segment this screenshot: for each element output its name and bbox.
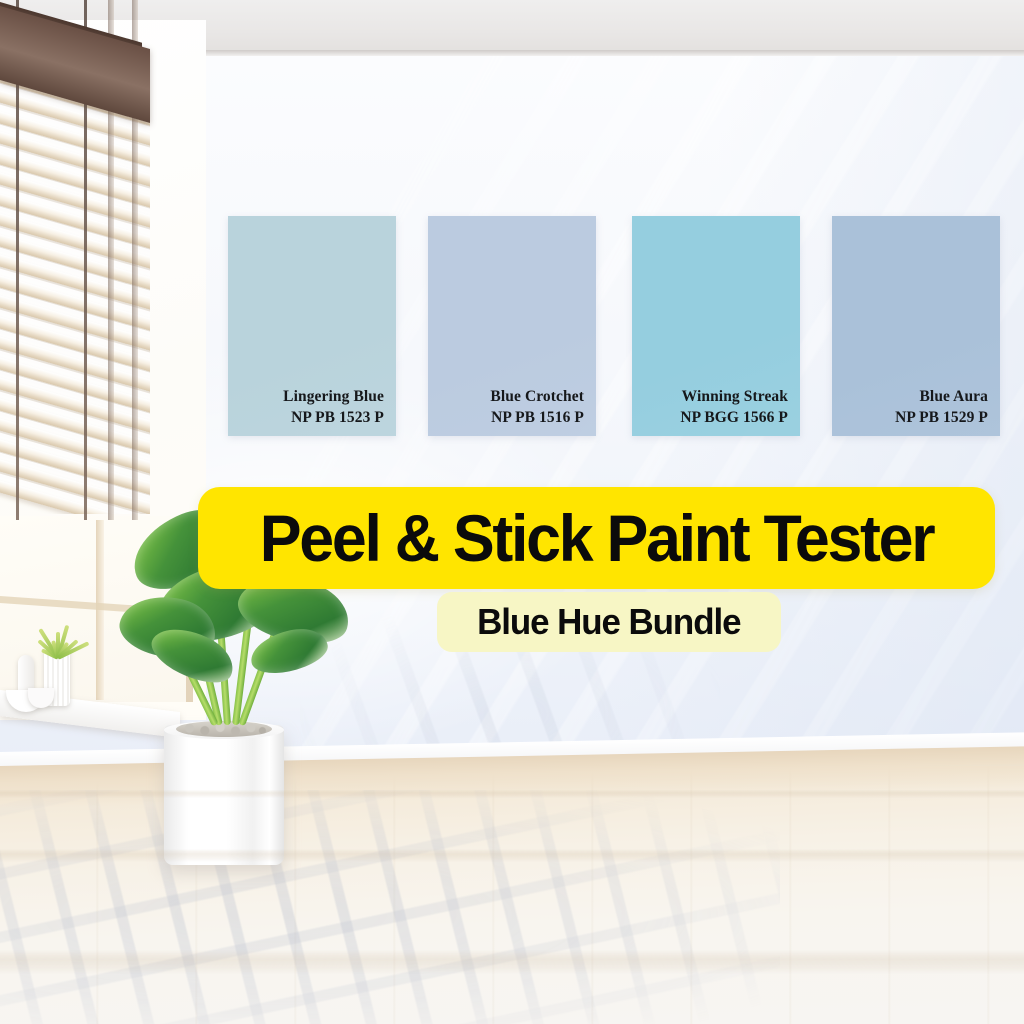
subtitle-pill: Blue Hue Bundle xyxy=(437,592,781,652)
subtitle-text: Blue Hue Bundle xyxy=(477,604,740,640)
paint-swatch-winning-streak[interactable]: Winning Streak NP BGG 1566 P xyxy=(632,216,800,436)
swatch-name: Lingering Blue xyxy=(283,386,384,407)
floor-blind-shadow xyxy=(0,790,780,1024)
succulent-plant xyxy=(36,618,80,658)
white-planter xyxy=(164,725,284,865)
swatch-code: NP BGG 1566 P xyxy=(680,407,788,428)
headline-banner: Peel & Stick Paint Tester xyxy=(198,487,995,589)
swatch-name: Blue Crotchet xyxy=(490,386,584,407)
swatch-code: NP PB 1529 P xyxy=(895,407,988,428)
paint-swatch-lingering-blue[interactable]: Lingering Blue NP PB 1523 P xyxy=(228,216,396,436)
room-scene-photo: Lingering Blue NP PB 1523 P Blue Crotche… xyxy=(0,0,1024,1024)
paint-swatch-blue-crotchet[interactable]: Blue Crotchet NP PB 1516 P xyxy=(428,216,596,436)
banner-title: Peel & Stick Paint Tester xyxy=(260,505,934,571)
swatch-code: NP PB 1523 P xyxy=(291,407,384,428)
paint-swatch-blue-aura[interactable]: Blue Aura NP PB 1529 P xyxy=(832,216,1000,436)
swatch-name: Winning Streak xyxy=(682,386,788,407)
swatch-code: NP PB 1516 P xyxy=(491,407,584,428)
swatch-name: Blue Aura xyxy=(919,386,988,407)
